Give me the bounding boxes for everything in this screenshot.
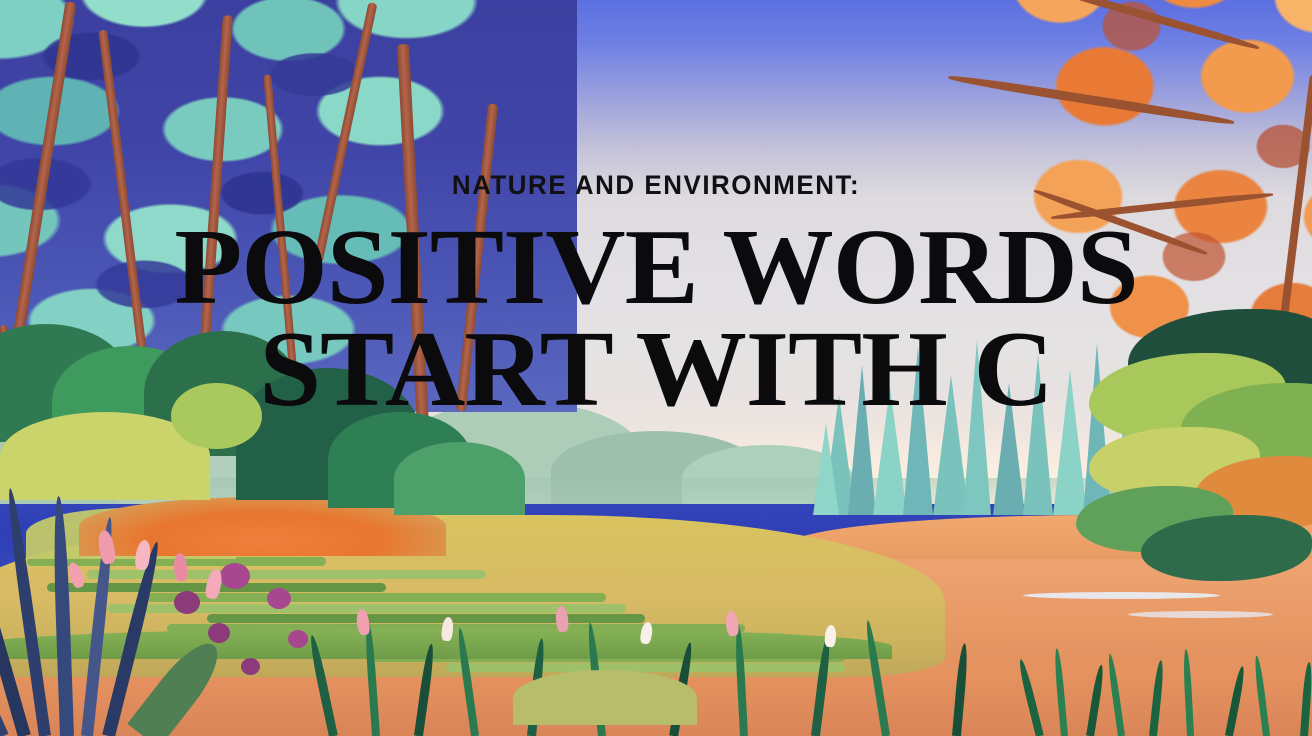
green-shrub: [394, 442, 525, 516]
foreground-flower-bed: [315, 604, 1023, 736]
banner-title-line-2: START WITH C: [0, 317, 1312, 423]
banner-text-block: NATURE AND ENVIRONMENT: POSITIVE WORDS S…: [0, 172, 1312, 423]
pink-blossom-cluster: [66, 530, 302, 692]
nature-banner: NATURE AND ENVIRONMENT: POSITIVE WORDS S…: [0, 0, 1312, 736]
banner-title-line-1: POSITIVE WORDS: [0, 215, 1312, 321]
beach-grass: [1023, 648, 1312, 736]
banner-eyebrow: NATURE AND ENVIRONMENT:: [26, 172, 1286, 199]
surf-line: [1128, 611, 1272, 618]
